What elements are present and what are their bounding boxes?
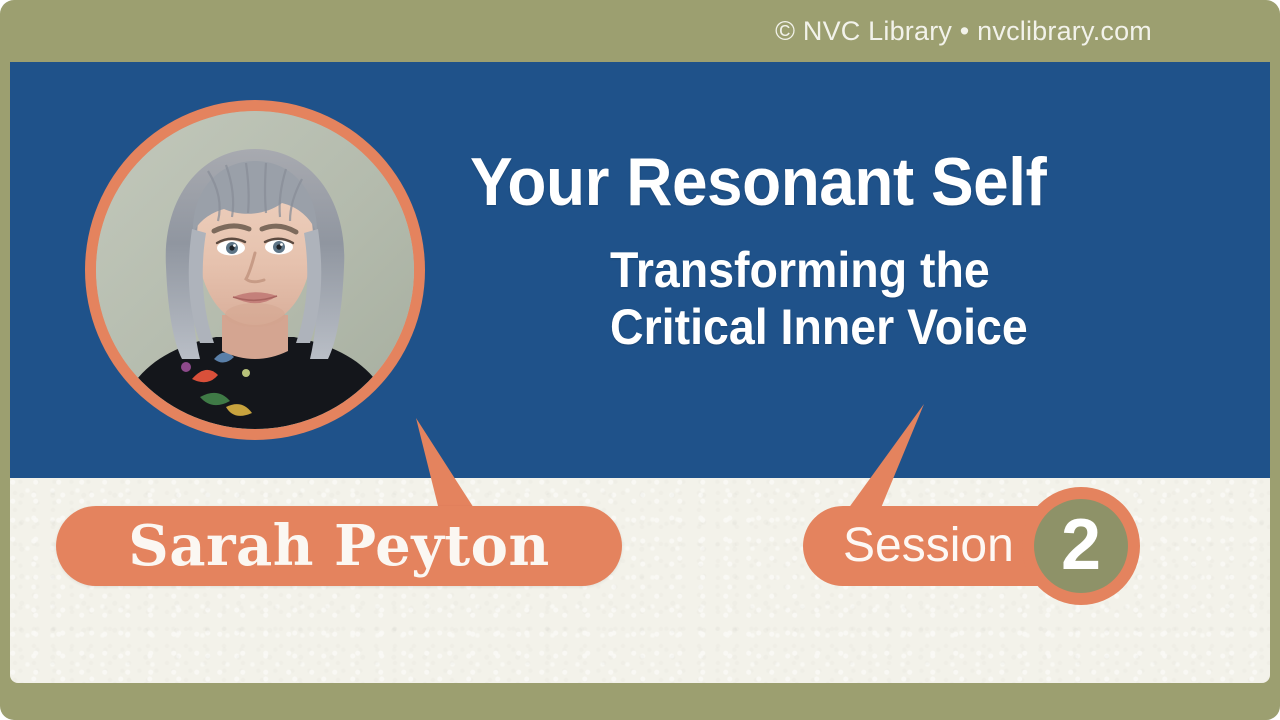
session-number-badge: 2 [1022,487,1140,605]
portrait-photo [96,111,414,429]
title-block: Your Resonant Self Transforming the Crit… [470,148,1210,355]
credit-bar: © NVC Library • nvclibrary.com [0,0,1280,62]
presentation-slide: © NVC Library • nvclibrary.com [0,0,1280,720]
session-number: 2 [1061,509,1101,581]
session-label: Session [843,522,1014,570]
speaker-name: Sarah Peyton [128,518,549,574]
session-number-disc: 2 [1034,499,1128,593]
page-title: Your Resonant Self [470,148,1166,216]
page-subtitle: Transforming the Critical Inner Voice [610,242,1168,355]
subtitle-line-2: Critical Inner Voice [610,299,1168,356]
subtitle-line-1: Transforming the [610,242,1168,299]
credit-text: © NVC Library • nvclibrary.com [775,16,1152,47]
session-bubble-tail [820,400,980,520]
avatar [85,100,425,440]
speaker-name-badge: Sarah Peyton [56,506,622,586]
